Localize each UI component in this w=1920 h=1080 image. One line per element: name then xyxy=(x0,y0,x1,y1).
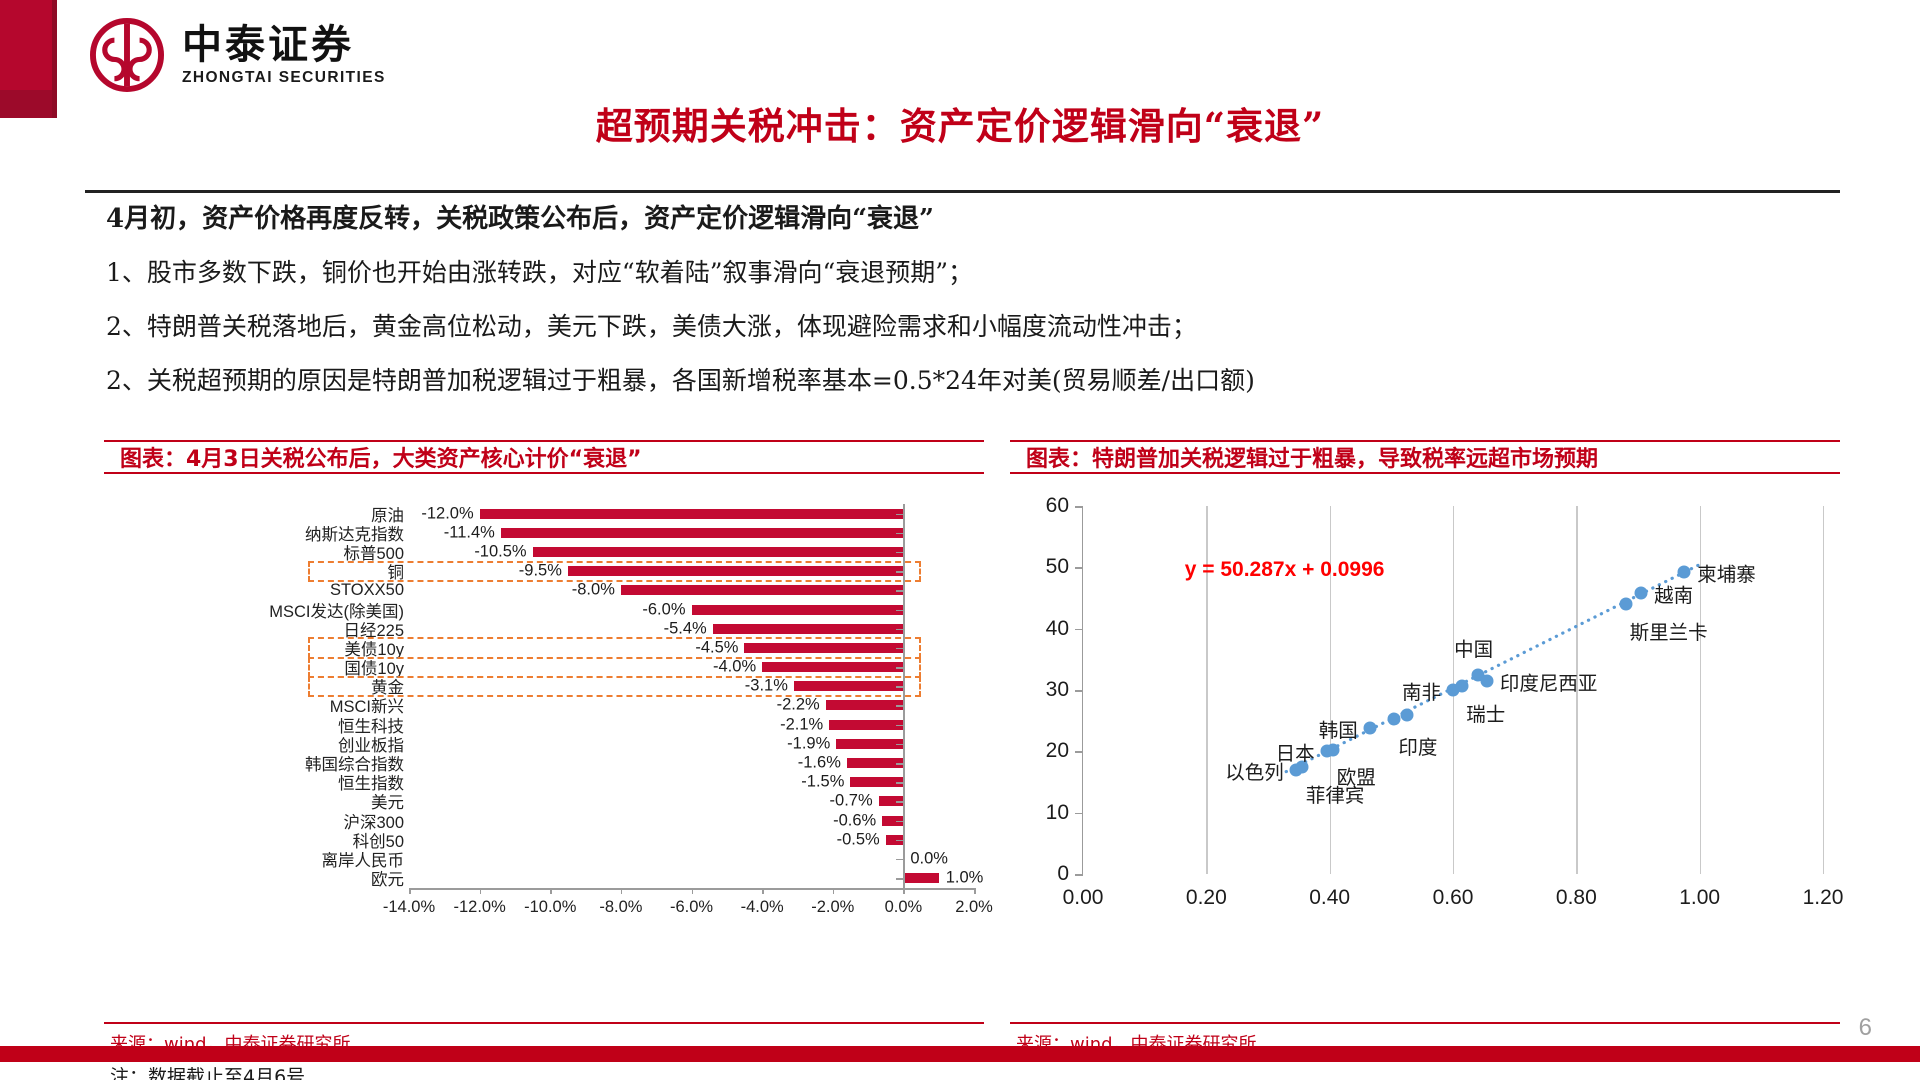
bar-track: -11.4% xyxy=(409,523,974,542)
y-tick-label: 10 xyxy=(1046,801,1069,825)
bar-track: -1.9% xyxy=(409,734,974,753)
y-tick-mark xyxy=(1075,874,1083,876)
x-tick-label: 0.40 xyxy=(1309,886,1350,910)
bar-track: -2.2% xyxy=(409,696,974,715)
bar-track: 0.0% xyxy=(409,849,974,868)
x-tick-label: -12.0% xyxy=(453,898,505,917)
x-tick-mark xyxy=(833,888,835,894)
x-tick-mark xyxy=(550,888,552,894)
logo-text-cn: 中泰证券 xyxy=(182,24,386,66)
x-tick-label: 1.00 xyxy=(1679,886,1720,910)
axis-tick xyxy=(896,571,903,573)
bar-track: 1.0% xyxy=(409,869,974,888)
bar-value-label: -3.1% xyxy=(745,677,788,696)
bar-value-label: -2.1% xyxy=(780,715,823,734)
page-title: 超预期关税冲击：资产定价逻辑滑向“衰退” xyxy=(0,96,1920,150)
bar-value-label: 0.0% xyxy=(910,849,948,868)
axis-tick xyxy=(896,514,903,516)
x-tick-mark xyxy=(762,888,764,894)
scatter-chart: 01020304050600.000.200.400.600.801.001.2… xyxy=(1010,496,1840,926)
y-tick-label: 60 xyxy=(1046,494,1069,518)
scatter-point xyxy=(1363,722,1376,735)
axis-tick xyxy=(896,763,903,765)
bar-track: -5.4% xyxy=(409,619,974,638)
axis-tick xyxy=(896,686,903,688)
axis-tick xyxy=(896,840,903,842)
right-chart-header: 图表：特朗普加关税逻辑过于粗暴，导致税率远超市场预期 xyxy=(1010,440,1840,474)
brand-accent-block-top xyxy=(0,0,52,90)
bar-segment xyxy=(533,547,904,557)
y-tick-mark xyxy=(1075,813,1083,815)
left-note-text: 注：数据截止至4月6号 xyxy=(110,1062,305,1080)
company-logo: 中泰证券 ZHONGTAI SECURITIES xyxy=(90,18,386,92)
left-source-divider xyxy=(104,1022,984,1024)
scatter-point-label: 柬埔寨 xyxy=(1697,558,1756,587)
bar-value-label: -6.0% xyxy=(642,600,685,619)
scatter-point-label: 欧盟 xyxy=(1337,761,1376,790)
x-tick-mark xyxy=(903,888,905,894)
axis-tick xyxy=(896,667,903,669)
bar-segment xyxy=(501,528,904,538)
zero-axis-line xyxy=(903,504,905,888)
bar-segment xyxy=(794,681,903,691)
bar-value-label: -11.4% xyxy=(444,523,495,542)
right-source-divider xyxy=(1010,1022,1840,1024)
bar-track: -1.5% xyxy=(409,773,974,792)
scatter-point-label: 印度尼西亚 xyxy=(1500,667,1598,696)
bar-category-label: 铜 xyxy=(114,559,404,583)
body-item-2: 2、特朗普关税落地后，黄金高位松动，美元下跌，美债大涨，体现避险需求和小幅度流动… xyxy=(106,314,1826,339)
bar-segment xyxy=(903,873,938,883)
left-chart-header: 图表：4月3日关税公布后，大类资产核心计价“衰退” xyxy=(104,440,984,474)
y-tick-label: 20 xyxy=(1046,739,1069,763)
title-divider xyxy=(85,190,1840,193)
x-tick-mark xyxy=(692,888,694,894)
axis-tick xyxy=(896,610,903,612)
x-tick-mark xyxy=(409,888,411,894)
axis-tick xyxy=(896,725,903,727)
x-tick-label: 0.0% xyxy=(885,898,923,917)
x-tick-label: -14.0% xyxy=(383,898,435,917)
axis-tick xyxy=(896,801,903,803)
bar-value-label: -1.6% xyxy=(798,754,841,773)
scatter-plot-area: 01020304050600.000.200.400.600.801.001.2… xyxy=(1082,506,1822,874)
right-chart-panel: 01020304050600.000.200.400.600.801.001.2… xyxy=(1010,496,1840,996)
bar-segment xyxy=(829,720,903,730)
axis-tick xyxy=(896,705,903,707)
axis-tick xyxy=(896,859,903,861)
bar-value-label: -10.5% xyxy=(474,542,526,561)
axis-tick xyxy=(896,533,903,535)
axis-tick xyxy=(896,648,903,650)
scatter-point xyxy=(1619,598,1632,611)
y-tick-mark xyxy=(1075,506,1083,508)
bar-value-label: -0.7% xyxy=(830,792,873,811)
bar-segment xyxy=(480,509,904,519)
body-lead-line: 4月初，资产价格再度反转，关税政策公布后，资产定价逻辑滑向“衰退” xyxy=(106,206,1826,232)
right-chart-header-label: 图表：特朗普加关税逻辑过于粗暴，导致税率远超市场预期 xyxy=(1010,441,1598,473)
body-item-1: 1、股市多数下跌，铜价也开始由涨转跌，对应“软着陆”叙事滑向“衰退预期”； xyxy=(106,260,1826,285)
scatter-point-label: 南非 xyxy=(1402,676,1441,705)
bar-segment xyxy=(826,700,904,710)
scatter-point-label: 韩国 xyxy=(1319,714,1358,743)
bar-track: -3.1% xyxy=(409,677,974,696)
bar-track: -2.1% xyxy=(409,715,974,734)
scatter-point-label: 中国 xyxy=(1454,633,1493,662)
x-tick-label: 1.20 xyxy=(1803,886,1844,910)
x-tick-label: 0.00 xyxy=(1063,886,1104,910)
y-tick-label: 40 xyxy=(1046,617,1069,641)
y-tick-mark xyxy=(1075,629,1083,631)
y-tick-mark xyxy=(1075,751,1083,753)
x-tick-label: 0.20 xyxy=(1186,886,1227,910)
bar-value-label: -4.5% xyxy=(695,638,738,657)
bar-value-label: -12.0% xyxy=(421,504,473,523)
bar-value-label: 1.0% xyxy=(946,869,984,888)
body-item-3: 2、关税超预期的原因是特朗普加税逻辑过于粗暴，各国新增税率基本=0.5*24年对… xyxy=(106,368,1826,393)
bar-track: -12.0% xyxy=(409,504,974,523)
bar-track: -8.0% xyxy=(409,581,974,600)
y-tick-label: 30 xyxy=(1046,678,1069,702)
scatter-point xyxy=(1635,587,1648,600)
bar-segment xyxy=(836,739,903,749)
bar-track: -6.0% xyxy=(409,600,974,619)
bar-value-label: -9.5% xyxy=(519,562,562,581)
x-tick-label: -4.0% xyxy=(741,898,784,917)
bar-track: -0.6% xyxy=(409,811,974,830)
axis-tick xyxy=(896,782,903,784)
bar-value-label: -0.5% xyxy=(837,830,880,849)
axis-tick xyxy=(896,552,903,554)
x-tick-label: 0.60 xyxy=(1433,886,1474,910)
bar-segment xyxy=(713,624,904,634)
x-tick-label: -8.0% xyxy=(599,898,642,917)
x-tick-label: -2.0% xyxy=(811,898,854,917)
bar-track: -10.5% xyxy=(409,542,974,561)
gridline-vertical xyxy=(1823,506,1824,874)
y-tick-mark xyxy=(1075,567,1083,569)
bar-segment xyxy=(692,605,904,615)
scatter-point xyxy=(1456,680,1469,693)
scatter-point xyxy=(1480,674,1493,687)
bar-value-label: -4.0% xyxy=(713,658,756,677)
axis-tick xyxy=(896,590,903,592)
bar-segment xyxy=(744,643,903,653)
regression-equation-label: y = 50.287x + 0.0996 xyxy=(1185,558,1385,582)
axis-tick xyxy=(896,629,903,631)
left-chart-header-label: 图表：4月3日关税公布后，大类资产核心计价“衰退” xyxy=(104,441,642,473)
left-chart-panel: 原油-12.0%纳斯达克指数-11.4%标普500-10.5%铜-9.5%STO… xyxy=(104,496,984,996)
bar-chart: 原油-12.0%纳斯达克指数-11.4%标普500-10.5%铜-9.5%STO… xyxy=(104,496,984,926)
x-tick-label: -6.0% xyxy=(670,898,713,917)
bar-value-label: -1.5% xyxy=(801,773,844,792)
bar-row: 欧元1.0% xyxy=(104,869,984,888)
bar-segment xyxy=(568,566,903,576)
y-tick-label: 0 xyxy=(1057,862,1069,886)
scatter-point xyxy=(1678,565,1691,578)
bar-segment xyxy=(762,662,903,672)
bar-value-label: -0.6% xyxy=(833,811,876,830)
scatter-point xyxy=(1326,743,1339,756)
axis-tick xyxy=(896,878,903,880)
bar-track: -9.5% xyxy=(409,562,974,581)
axis-tick xyxy=(896,821,903,823)
scatter-point xyxy=(1388,712,1401,725)
x-tick-mark xyxy=(621,888,623,894)
bar-track: -0.7% xyxy=(409,792,974,811)
x-tick-mark xyxy=(480,888,482,894)
bar-value-label: -8.0% xyxy=(572,581,615,600)
bar-rows: 原油-12.0%纳斯达克指数-11.4%标普500-10.5%铜-9.5%STO… xyxy=(104,504,984,888)
body-text-block: 4月初，资产价格再度反转，关税政策公布后，资产定价逻辑滑向“衰退” 1、股市多数… xyxy=(106,206,1826,422)
scatter-point-label: 印度 xyxy=(1398,731,1437,760)
x-axis-ticks: -14.0%-12.0%-10.0%-8.0%-6.0%-4.0%-2.0%0.… xyxy=(409,888,974,914)
scatter-point xyxy=(1400,708,1413,721)
bar-track: -4.0% xyxy=(409,658,974,677)
x-tick-label: 0.80 xyxy=(1556,886,1597,910)
footer-band xyxy=(0,1046,1920,1062)
bar-value-label: -5.4% xyxy=(664,619,707,638)
axis-tick xyxy=(896,744,903,746)
bar-segment xyxy=(621,585,904,595)
bar-segment xyxy=(847,758,904,768)
x-tick-label: 2.0% xyxy=(955,898,993,917)
bar-category-label: 欧元 xyxy=(114,866,404,890)
scatter-point-label: 日本 xyxy=(1276,737,1315,766)
zhongtai-logo-icon xyxy=(90,18,164,92)
scatter-point-label: 斯里兰卡 xyxy=(1630,616,1708,645)
y-tick-mark xyxy=(1075,690,1083,692)
bar-row: 铜-9.5% xyxy=(104,562,984,581)
page-number: 6 xyxy=(1859,1014,1872,1042)
bar-value-label: -2.2% xyxy=(777,696,820,715)
bar-value-label: -1.9% xyxy=(787,734,830,753)
bar-track: -4.5% xyxy=(409,638,974,657)
x-tick-mark xyxy=(974,888,976,894)
bar-track: -0.5% xyxy=(409,830,974,849)
scatter-point-label: 越南 xyxy=(1654,579,1693,608)
bar-track: -1.6% xyxy=(409,753,974,772)
x-tick-label: -10.0% xyxy=(524,898,576,917)
scatter-point-label: 瑞士 xyxy=(1466,698,1505,727)
logo-text-en: ZHONGTAI SECURITIES xyxy=(182,69,386,87)
slide-root: 中泰证券 ZHONGTAI SECURITIES 超预期关税冲击：资产定价逻辑滑… xyxy=(0,0,1920,1080)
y-tick-label: 50 xyxy=(1046,555,1069,579)
